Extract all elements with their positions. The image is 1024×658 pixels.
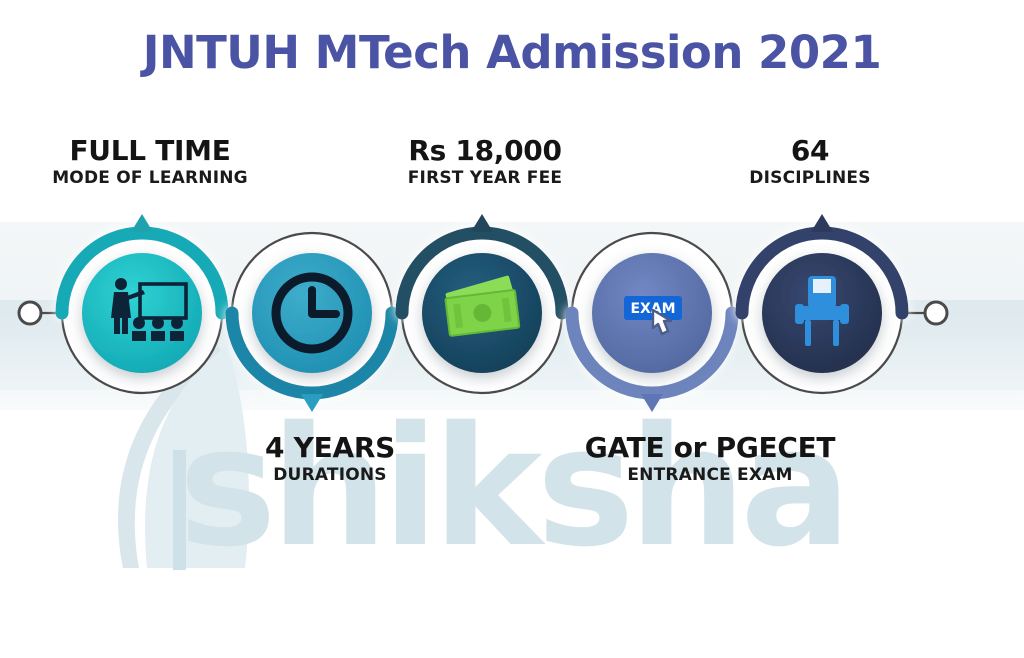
- triangle-down-icon: [641, 394, 663, 412]
- timeline-node-disciplines[interactable]: [742, 214, 902, 393]
- label-value: GATE or PGECET: [555, 432, 865, 463]
- node-disc: [82, 253, 202, 373]
- timeline-node-mode-of-learning[interactable]: [62, 214, 222, 393]
- label-caption: DISCIPLINES: [680, 166, 940, 192]
- timeline-endpoint-left: [19, 302, 41, 324]
- timeline-node-entrance-exam[interactable]: EXAM: [572, 233, 732, 412]
- label-caption: FIRST YEAR FEE: [345, 166, 625, 192]
- triangle-up-icon: [131, 214, 153, 232]
- label-first-year-fee: Rs 18,000 FIRST YEAR FEE: [345, 135, 625, 192]
- triangle-up-icon: [811, 214, 833, 232]
- page-title: JNTUH MTech Admission 2021: [0, 26, 1024, 79]
- infographic-canvas: shiksha JNTUH MTech Admission 2021: [0, 0, 1024, 658]
- triangle-down-icon: [301, 394, 323, 412]
- label-value: FULL TIME: [5, 135, 295, 166]
- label-entrance-exam: GATE or PGECET ENTRANCE EXAM: [555, 432, 865, 489]
- label-disciplines: 64 DISCIPLINES: [680, 135, 940, 192]
- triangle-up-icon: [471, 214, 493, 232]
- label-caption: ENTRANCE EXAM: [555, 463, 865, 489]
- timeline-node-first-year-fee[interactable]: [402, 214, 562, 393]
- label-value: 4 YEARS: [215, 432, 445, 463]
- label-caption: MODE OF LEARNING: [5, 166, 295, 192]
- label-duration: 4 YEARS DURATIONS: [215, 432, 445, 489]
- timeline-graphic: EXAM: [0, 200, 1024, 430]
- label-mode-of-learning: FULL TIME MODE OF LEARNING: [5, 135, 295, 192]
- timeline-node-duration[interactable]: [232, 233, 392, 412]
- label-caption: DURATIONS: [215, 463, 445, 489]
- label-value: 64: [680, 135, 940, 166]
- label-value: Rs 18,000: [345, 135, 625, 166]
- timeline-endpoint-right: [925, 302, 947, 324]
